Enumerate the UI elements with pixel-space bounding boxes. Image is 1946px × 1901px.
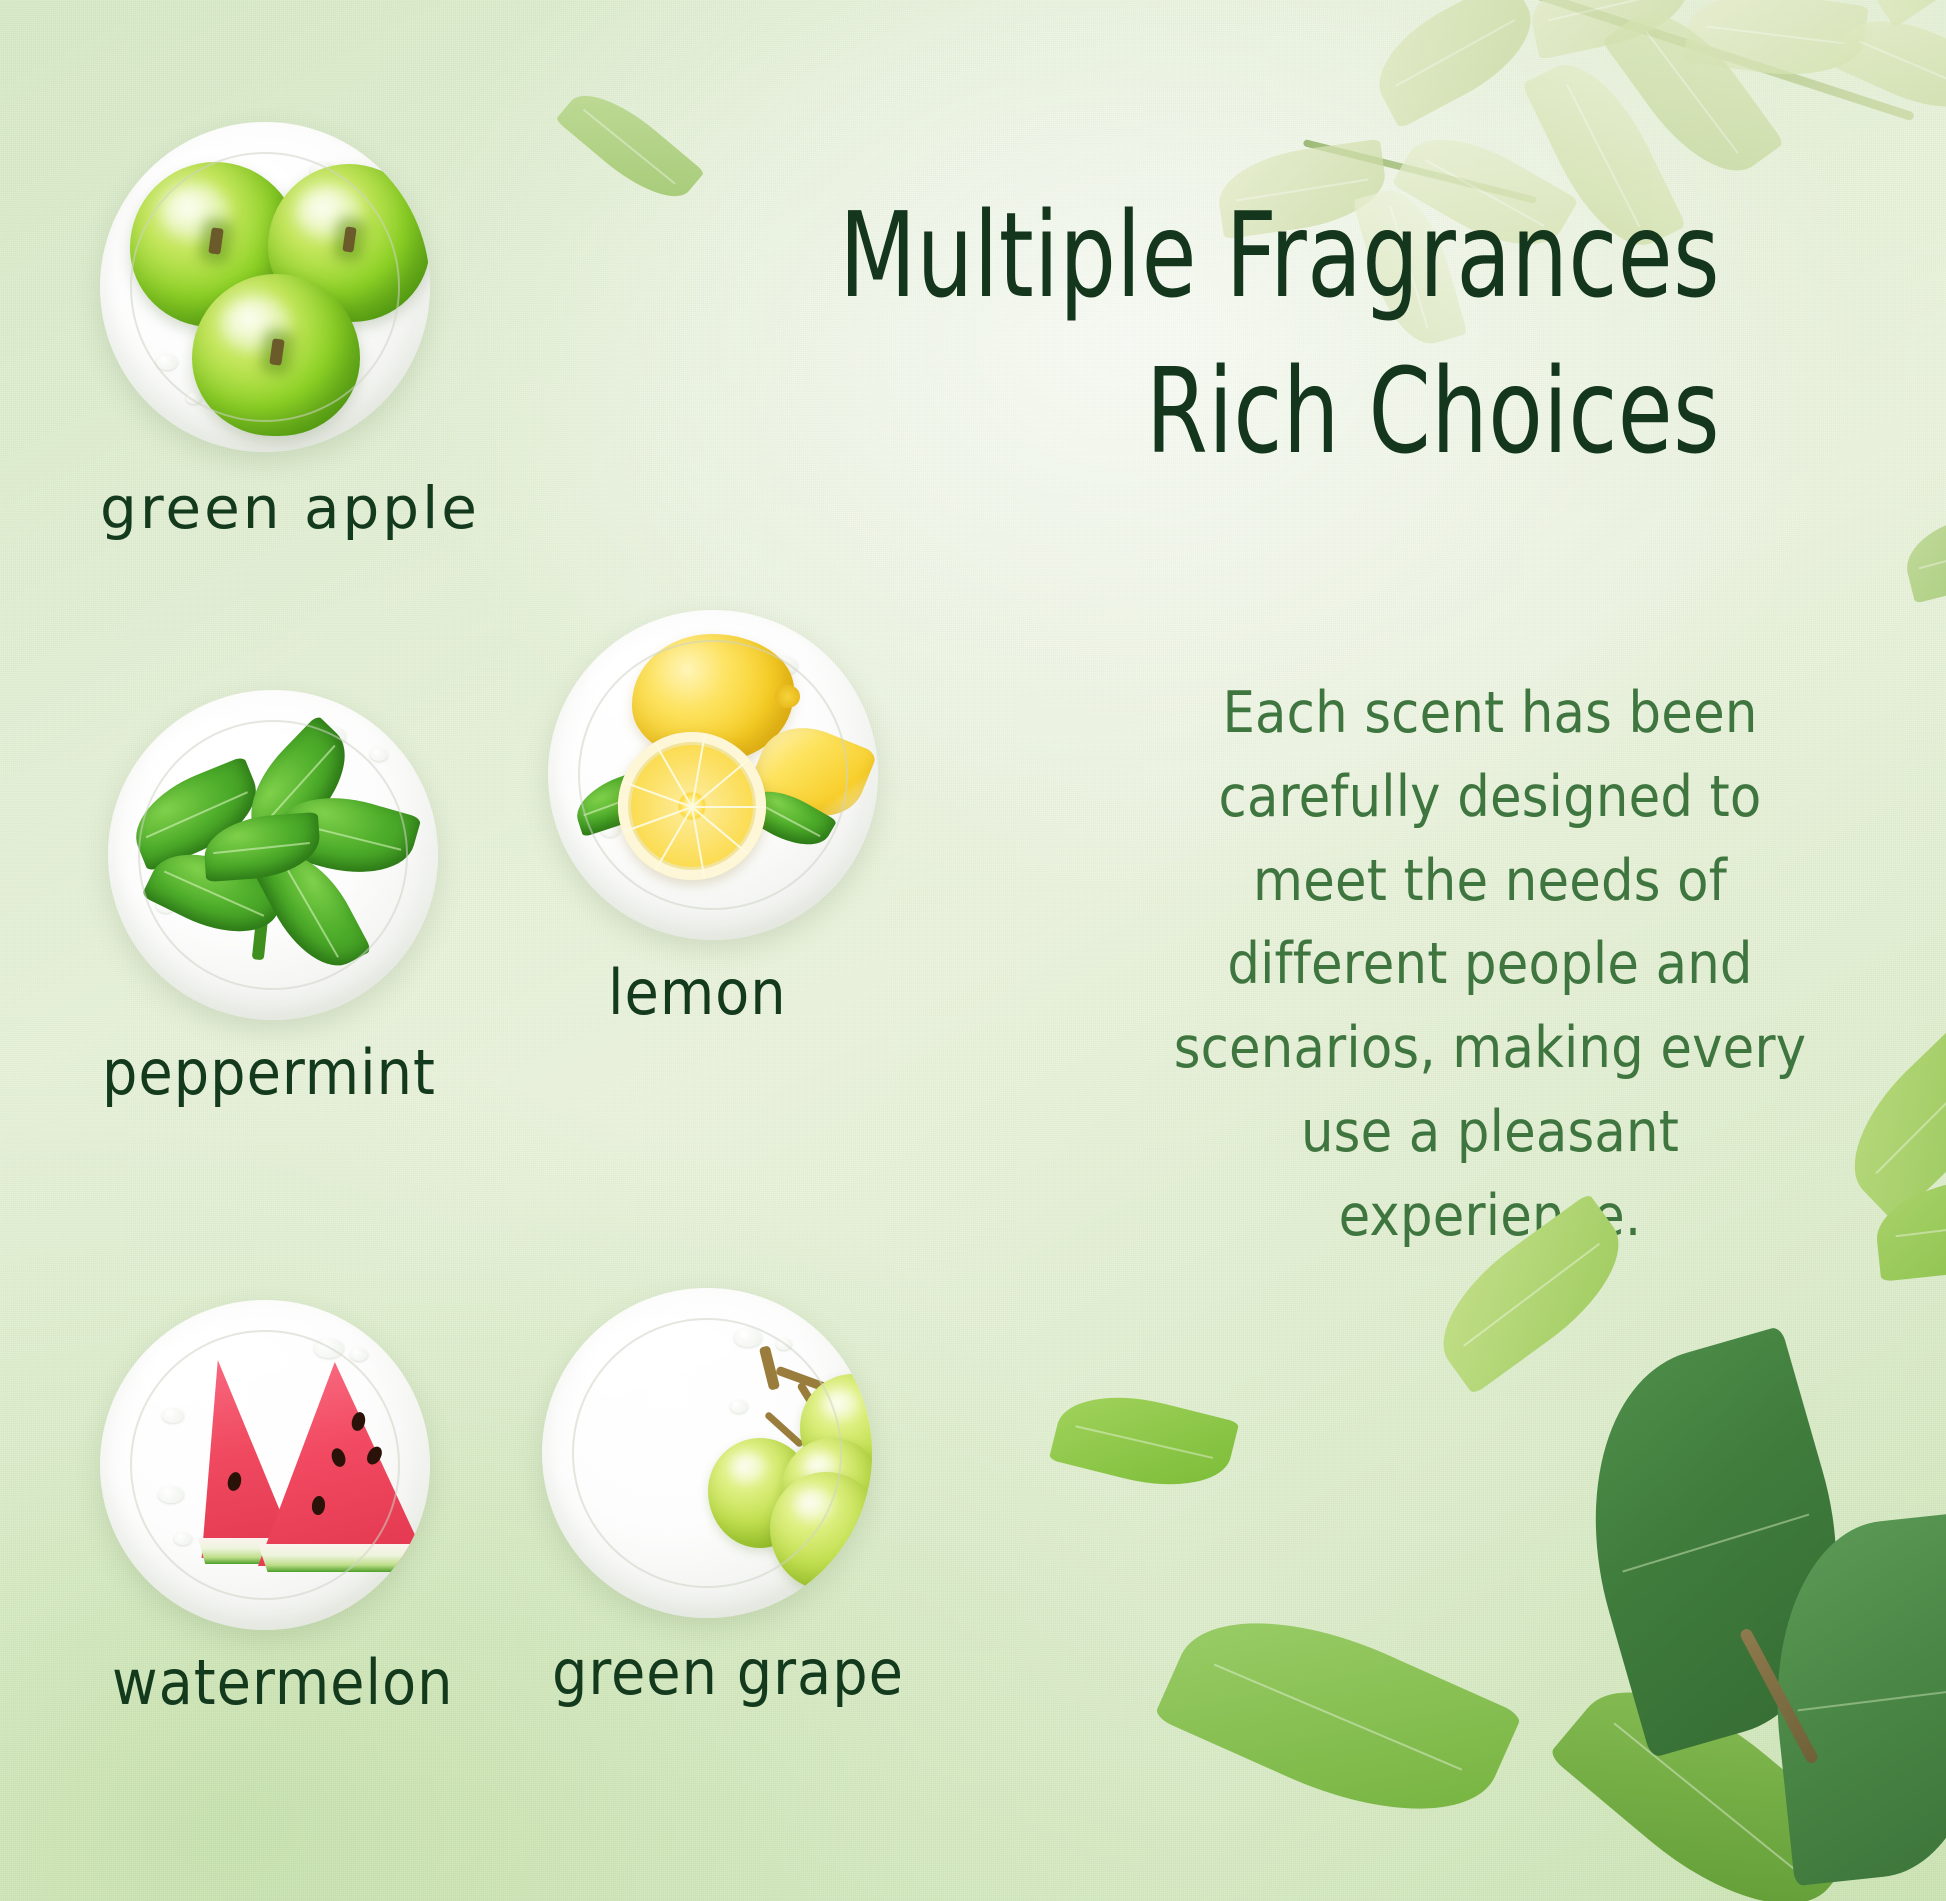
description-line: scenarios, making every [1140, 1007, 1840, 1091]
description-line: carefully designed to [1140, 756, 1840, 840]
scent-card-green-grape[interactable]: green grape [542, 1288, 872, 1618]
scent-label-peppermint: peppermint [102, 1036, 436, 1109]
peppermint-plate-icon [108, 690, 438, 1020]
description-paragraph: Each scent has been carefully designed t… [1140, 672, 1840, 1258]
leaf-icon [1546, 1326, 1885, 1759]
leaf-icon [1898, 507, 1946, 604]
scent-card-peppermint[interactable]: peppermint [108, 690, 438, 1020]
leaf-icon [1824, 1006, 1946, 1222]
scent-card-lemon[interactable]: lemon [548, 610, 878, 940]
green-grape-plate-icon [542, 1288, 872, 1618]
watermelon-plate-icon [100, 1300, 430, 1630]
lemon-plate-icon [548, 610, 878, 940]
scent-label-lemon: lemon [608, 956, 787, 1029]
grape-icon [770, 1472, 872, 1590]
leaf-icon [1683, 0, 1868, 86]
scent-label-green-grape: green grape [552, 1636, 904, 1709]
leaf-icon [1524, 0, 1697, 60]
description-line: experience. [1140, 1175, 1840, 1259]
watermelon-rind-icon [258, 1544, 418, 1572]
poster-headline: Multiple Fragrances Rich Choices [712, 178, 1720, 490]
green-apple-plate-icon [100, 122, 430, 452]
scent-card-watermelon[interactable]: watermelon [100, 1300, 430, 1630]
description-line: use a pleasant [1140, 1091, 1840, 1175]
apple-icon [192, 274, 360, 436]
leaf-icon [1154, 1578, 1523, 1854]
scent-label-watermelon: watermelon [112, 1646, 453, 1719]
description-line: Each scent has been [1140, 672, 1840, 756]
leaf-icon [1872, 1170, 1946, 1281]
leaf-icon [1832, 1, 1946, 128]
leaf-icon [1855, 0, 1946, 28]
fragrance-poster: Multiple Fragrances Rich Choices Each sc… [0, 0, 1946, 1901]
description-line: different people and [1140, 923, 1840, 1007]
description-line: meet the needs of [1140, 840, 1840, 924]
leaf-icon [1360, 0, 1550, 129]
leaf-icon [1602, 0, 1785, 195]
lemon-slice-icon [618, 732, 766, 880]
scent-label-green-apple: green apple [100, 474, 480, 542]
scent-card-green-apple[interactable]: green apple [100, 122, 430, 452]
leaf-icon [555, 77, 704, 215]
leaf-icon [1548, 1648, 1868, 1901]
headline-line-1: Multiple Fragrances [712, 178, 1720, 334]
leaf-icon [1049, 1380, 1240, 1502]
leaf-icon [1758, 1512, 1946, 1886]
headline-line-2: Rich Choices [712, 334, 1720, 490]
